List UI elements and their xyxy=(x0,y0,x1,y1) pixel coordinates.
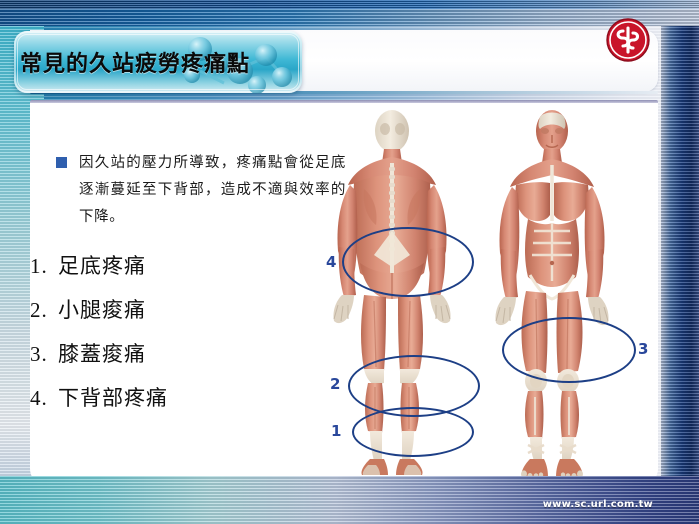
list-item: 2. 小腿痠痛 xyxy=(30,294,330,338)
anterior-muscular-figure xyxy=(495,110,608,479)
annotation-ellipse-4 xyxy=(342,227,474,297)
list-item-number: 1. xyxy=(30,254,54,279)
top-dark-stripe-texture xyxy=(0,0,699,9)
annotation-ellipse-1 xyxy=(352,407,474,457)
square-bullet-icon xyxy=(56,157,67,168)
company-logo-icon xyxy=(604,16,652,64)
anatomy-figures: 4 2 1 3 xyxy=(330,105,660,480)
bullet-text: 因久站的壓力所導致，疼痛點會從足底逐漸蔓延至下背部，造成不適與效率的下降。 xyxy=(79,150,346,231)
company-logo xyxy=(604,16,652,64)
label-1: 1 xyxy=(331,422,341,440)
list-item: 1. 足底疼痛 xyxy=(30,250,330,294)
label-4: 4 xyxy=(326,253,336,271)
numbered-list: 1. 足底疼痛 2. 小腿痠痛 3. 膝蓋痠痛 4. 下背部疼痛 xyxy=(30,250,330,426)
annotation-ellipse-3 xyxy=(502,317,636,383)
list-item-number: 2. xyxy=(30,298,54,323)
list-item-label: 小腿痠痛 xyxy=(58,294,146,324)
bullet-row: 因久站的壓力所導致，疼痛點會從足底逐漸蔓延至下背部，造成不適與效率的下降。 xyxy=(56,150,346,231)
list-item-number: 4. xyxy=(30,386,54,411)
list-item: 4. 下背部疼痛 xyxy=(30,382,330,426)
page-title: 常見的久站疲勞疼痛點 xyxy=(20,31,320,93)
list-item-label: 膝蓋痠痛 xyxy=(58,338,146,368)
label-3: 3 xyxy=(638,340,648,358)
label-2: 2 xyxy=(330,375,340,393)
list-item-number: 3. xyxy=(30,342,54,367)
footer-url: www.sc.url.com.tw xyxy=(543,499,653,510)
right-accent-column-texture xyxy=(661,0,699,524)
slide-canvas: 常見的久站疲勞疼痛點 因久站的壓力所導致，疼痛點會從足底逐漸蔓延至下背部，造成不… xyxy=(0,0,699,524)
list-item: 3. 膝蓋痠痛 xyxy=(30,338,330,382)
list-item-label: 下背部疼痛 xyxy=(58,382,168,412)
list-item-label: 足底疼痛 xyxy=(58,250,146,280)
